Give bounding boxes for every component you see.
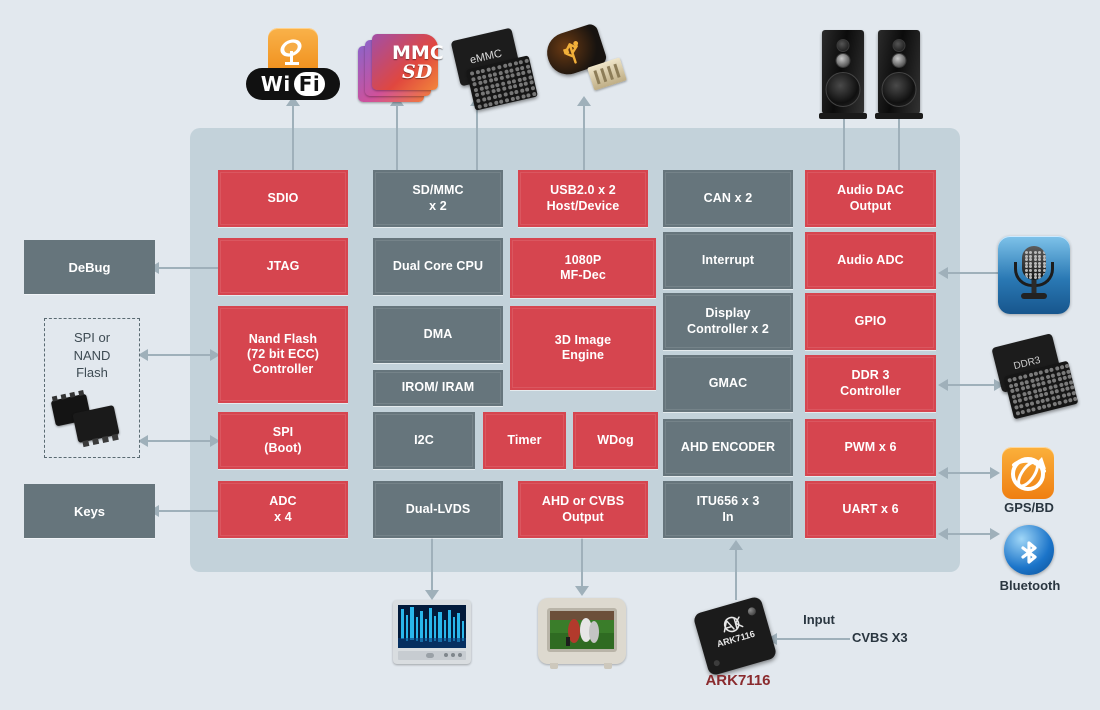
line-nand-flash (148, 354, 218, 356)
block-can-x2[interactable]: CAN x 2 (663, 170, 793, 227)
arrow-down-monitor (425, 590, 439, 600)
block-label: DMA (424, 327, 453, 342)
block-label: 1080PMF-Dec (560, 253, 606, 284)
block-label: DDR 3Controller (840, 368, 901, 399)
screen-artwork (550, 611, 614, 649)
block-label: UART x 6 (842, 502, 898, 517)
block-spi-boot[interactable]: SPI(Boot) (218, 412, 348, 469)
woofer (826, 72, 861, 107)
block-audio-dac-output[interactable]: Audio DACOutput (805, 170, 936, 227)
speaker-base (875, 113, 923, 119)
arrow-left-gps (938, 467, 948, 479)
block-label: PWM x 6 (844, 440, 896, 455)
monitor-bezel-bar (398, 651, 466, 660)
block-jtag[interactable]: JTAG (218, 238, 348, 295)
arrow-right-bluetooth (990, 528, 1000, 540)
block-itu656-x3-in[interactable]: ITU656 x 3In (663, 481, 793, 538)
block-usb20-host-device[interactable]: USB2.0 x 2Host/Device (518, 170, 648, 227)
block-label: SDIO (268, 191, 299, 206)
block-adc-x4[interactable]: ADCx 4 (218, 481, 348, 538)
peripheral-label: SPI orNANDFlash (45, 329, 139, 382)
speaker-base (819, 113, 867, 119)
block-1080p-mf-dec[interactable]: 1080PMF-Dec (510, 238, 656, 298)
sd-mmc-card-icon[interactable]: MMC SD (358, 32, 444, 104)
bluetooth-icon[interactable] (1004, 525, 1054, 575)
mid-driver (892, 53, 907, 68)
ark-chip-icon[interactable]: ARK7116 (693, 596, 778, 677)
block-irom-iram[interactable]: IROM/ IRAM (373, 370, 503, 406)
line-spi-flash (148, 440, 218, 442)
block-label: WDog (597, 433, 634, 448)
wifi-wi-text: Wi (261, 72, 291, 96)
speaker-icon-2[interactable] (878, 30, 920, 114)
mic-foot (1021, 293, 1047, 299)
wifi-fi-text: Fi (294, 72, 326, 96)
gps-label: GPS/BD (990, 500, 1068, 515)
tweeter (837, 39, 850, 52)
tweeter (893, 39, 906, 52)
headrest-screen (550, 611, 614, 649)
input-label: Input (786, 612, 852, 627)
mic-stem (1032, 280, 1037, 294)
block-nand-flash-controller[interactable]: Nand Flash(72 bit ECC)Controller (218, 306, 348, 403)
bluetooth-label: Bluetooth (984, 578, 1076, 593)
block-dual-core-cpu[interactable]: Dual Core CPU (373, 238, 503, 295)
arrow-right-gps (990, 467, 1000, 479)
block-label: SD/MMCx 2 (412, 183, 463, 214)
block-label: Timer (507, 433, 541, 448)
block-display-controller-x2[interactable]: DisplayController x 2 (663, 293, 793, 350)
block-audio-adc[interactable]: Audio ADC (805, 232, 936, 289)
block-label: CAN x 2 (704, 191, 753, 206)
woofer (882, 72, 917, 107)
arrow-left-bluetooth (938, 528, 948, 540)
wifi-logo: WiFi (246, 68, 340, 100)
block-label: DisplayController x 2 (687, 306, 769, 337)
mid-driver (836, 53, 851, 68)
block-label: Audio ADC (837, 253, 903, 268)
line-audio-adc-mic (946, 272, 1002, 274)
arrow-up-usb (577, 96, 591, 106)
block-label: GMAC (709, 376, 748, 391)
block-dma[interactable]: DMA (373, 306, 503, 363)
line-sdmmc-card (396, 104, 398, 170)
block-sd-mmc-x2[interactable]: SD/MMCx 2 (373, 170, 503, 227)
ark-chip-label: ARK7116 (690, 672, 786, 689)
gps-icon[interactable] (1002, 447, 1054, 499)
peripheral-label: Keys (74, 504, 105, 519)
block-label: Audio DACOutput (837, 183, 904, 214)
sd-text: SD (402, 61, 432, 83)
block-label: Interrupt (702, 253, 754, 268)
monitor-screen (398, 605, 466, 648)
arrow-up-itu656 (729, 540, 743, 550)
satellite-dish-icon (278, 37, 308, 67)
block-ahd-or-cvbs-output[interactable]: AHD or CVBSOutput (518, 481, 648, 538)
headrest-display-icon[interactable] (538, 598, 626, 664)
block-label: IROM/ IRAM (402, 380, 475, 395)
block-label: I2C (414, 433, 434, 448)
block-label: ADCx 4 (269, 494, 296, 525)
line-jtag-debug (155, 267, 218, 269)
sd-card-front: MMC SD (372, 34, 438, 90)
line-itu656-ark (735, 548, 737, 600)
block-uart-x6[interactable]: UART x 6 (805, 481, 936, 538)
block-label: 3D ImageEngine (555, 333, 611, 364)
usb-symbol-icon (556, 36, 589, 69)
peripheral-label: DeBug (69, 260, 111, 275)
bluetooth-glyph-icon (1004, 525, 1054, 575)
block-label: Nand Flash(72 bit ECC)Controller (247, 332, 319, 378)
peripheral-keys[interactable]: Keys (24, 484, 155, 538)
peripheral-debug[interactable]: DeBug (24, 240, 155, 294)
block-gpio[interactable]: GPIO (805, 293, 936, 350)
block-label: USB2.0 x 2Host/Device (547, 183, 620, 214)
block-gmac[interactable]: GMAC (663, 355, 793, 412)
block-wdog[interactable]: WDog (573, 412, 658, 469)
cvbs-label: CVBS X3 (852, 630, 932, 645)
block-sdio[interactable]: SDIO (218, 170, 348, 227)
microphone-icon[interactable] (998, 236, 1070, 314)
block-label: SPI(Boot) (264, 425, 301, 456)
line-lvds-monitor (431, 538, 433, 594)
arrow-left-audio-adc (938, 267, 948, 279)
block-pwm-x6[interactable]: PWM x 6 (805, 419, 936, 476)
block-label: AHD ENCODER (681, 440, 775, 455)
line-usb (583, 104, 585, 170)
block-label: JTAG (267, 259, 300, 274)
line-adc-keys (155, 510, 218, 512)
block-dual-lvds[interactable]: Dual-LVDS (373, 481, 503, 538)
headrest-foot-left (550, 663, 558, 669)
line-sdmmc-emmc (476, 104, 478, 170)
block-ddr3-controller[interactable]: DDR 3Controller (805, 355, 936, 412)
arrow-down-headrest (575, 586, 589, 596)
line-ahd-cvbs-headrest (581, 538, 583, 590)
ark-chip-logo: ARK7116 (696, 607, 771, 654)
block-label: Dual-LVDS (406, 502, 471, 517)
headrest-foot-right (604, 663, 612, 669)
peripheral-spi-nand-flash-group[interactable]: SPI orNANDFlash (44, 318, 140, 458)
block-label: Dual Core CPU (393, 259, 483, 274)
diagram-canvas: SDIO JTAG Nand Flash(72 bit ECC)Controll… (0, 0, 1100, 710)
speaker-icon[interactable] (822, 30, 864, 114)
block-label: ITU656 x 3In (697, 494, 760, 525)
block-label: GPIO (855, 314, 887, 329)
line-cvbs-input (775, 638, 850, 640)
block-timer[interactable]: Timer (483, 412, 566, 469)
block-interrupt[interactable]: Interrupt (663, 232, 793, 289)
gps-globe-icon (1002, 447, 1054, 499)
arrow-left-ddr3 (938, 379, 948, 391)
ark-pin1-dot (713, 659, 720, 666)
line-sdio-wifi (292, 104, 294, 170)
block-ahd-encoder[interactable]: AHD ENCODER (663, 419, 793, 476)
screen-artwork (398, 605, 466, 648)
block-3d-image-engine[interactable]: 3D ImageEngine (510, 306, 656, 390)
monitor-icon[interactable] (393, 600, 471, 664)
block-label: AHD or CVBSOutput (542, 494, 624, 525)
block-i2c[interactable]: I2C (373, 412, 475, 469)
headrest-bezel (547, 608, 617, 652)
